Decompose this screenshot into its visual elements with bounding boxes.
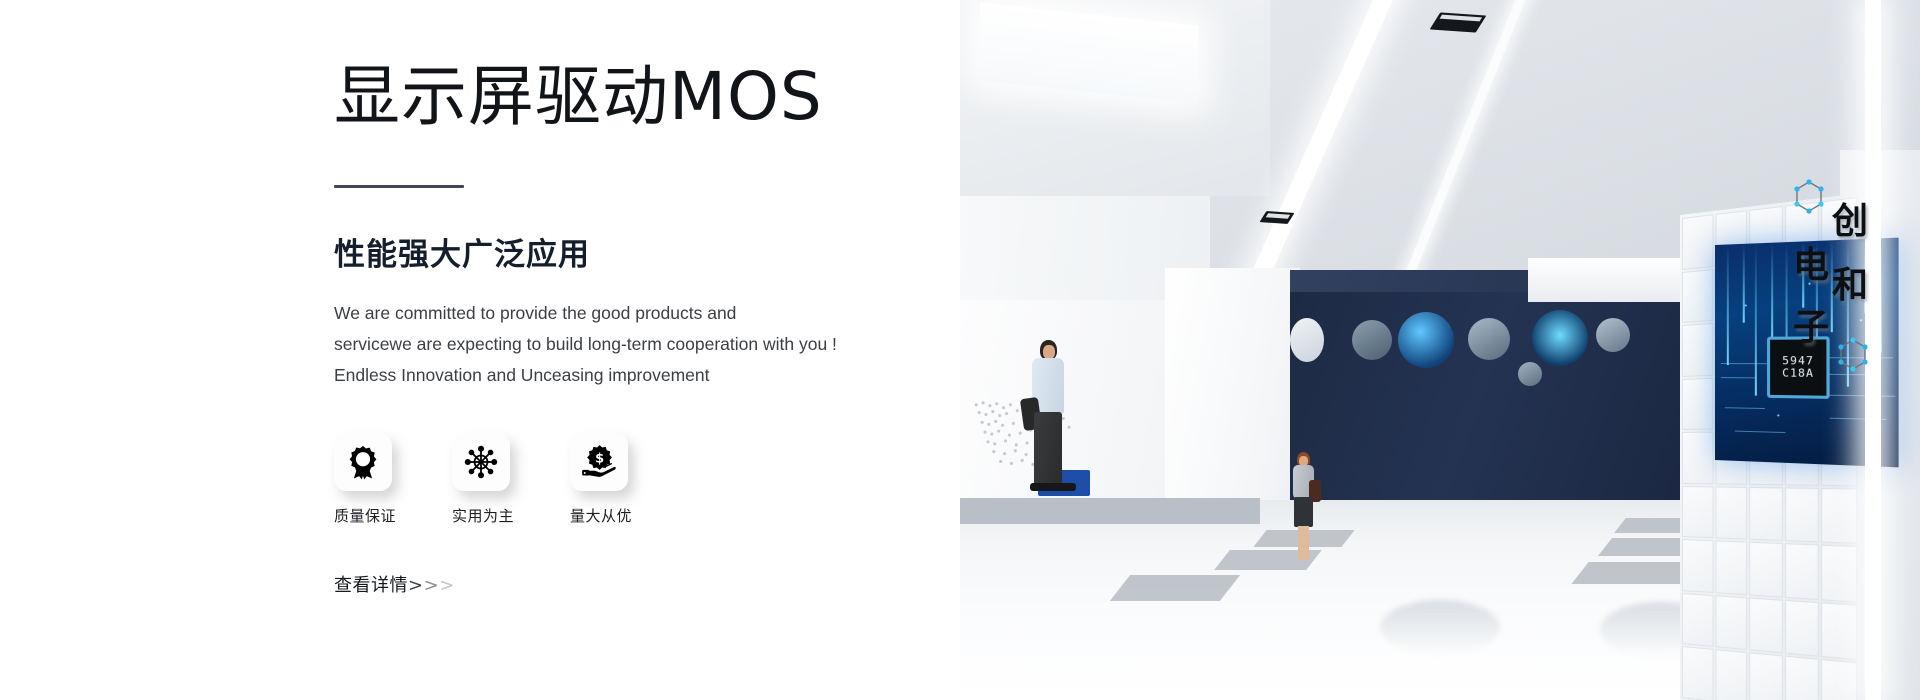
wall-photo-circle (1532, 310, 1588, 366)
view-details-link[interactable]: 查看详情>>> (334, 571, 455, 597)
award-ribbon-icon (345, 444, 381, 480)
navy-exhibition-wall (1290, 285, 1710, 515)
feature-label: 质量保证 (334, 505, 396, 526)
floor-reflection (1380, 600, 1500, 655)
feature-badge: $ (570, 433, 628, 491)
molecule-hexagon-icon (1836, 336, 1870, 374)
chevron-1-icon: > (408, 575, 424, 596)
feature-badge (334, 433, 392, 491)
wall-photo-circle (1352, 320, 1392, 360)
hero-paragraph: We are committed to provide the good pro… (334, 298, 879, 391)
person-businesswoman (1290, 452, 1324, 564)
view-details-label: 查看详情 (334, 575, 408, 596)
network-hub-icon (463, 444, 499, 480)
feature-list: 质量保证 (334, 433, 960, 526)
chevron-2-icon: > (424, 575, 440, 596)
hand-money-icon: $ (581, 444, 617, 480)
sign-char-3: 和 (1832, 256, 1868, 308)
feature-item-quality[interactable]: 质量保证 (334, 433, 394, 526)
feature-item-practical[interactable]: 实用为主 (452, 433, 512, 526)
hero-banner: 显示屏驱动MOS 性能强大广泛应用 We are committed to pr… (0, 0, 1920, 700)
feature-label: 实用为主 (452, 505, 514, 526)
person-businessman (1022, 340, 1078, 495)
wall-photo-circle (1468, 318, 1510, 360)
sign-char-4: 子 (1793, 298, 1829, 350)
page-title: 显示屏驱动MOS (334, 64, 960, 130)
paragraph-line-3: Endless Innovation and Unceasing improve… (334, 360, 879, 391)
showroom-photo: 5947 C18A 创 电 和 子 (960, 0, 1920, 700)
wall-signage: 创 电 和 子 (1788, 178, 1900, 388)
title-divider (334, 185, 464, 188)
feature-badge (452, 433, 510, 491)
chevron-3-icon: > (439, 575, 455, 596)
molecule-hexagon-icon (1792, 178, 1826, 216)
sign-char-1: 创 (1832, 192, 1868, 244)
wall-photo-circle (1290, 318, 1324, 362)
wall-photo-circle (1518, 362, 1542, 386)
svg-text:$: $ (595, 451, 604, 466)
paragraph-line-1: We are committed to provide the good pro… (334, 298, 879, 329)
floor-baseboard (960, 498, 1260, 524)
feature-label: 量大从优 (570, 505, 632, 526)
hero-subtitle: 性能强大广泛应用 (334, 238, 960, 272)
paragraph-line-2: servicewe are expecting to build long-te… (334, 329, 879, 360)
wall-chip-circle (1398, 312, 1454, 368)
floor-tile (1110, 575, 1240, 601)
wall-photo-circle (1596, 318, 1630, 352)
hero-text-panel: 显示屏驱动MOS 性能强大广泛应用 We are committed to pr… (0, 0, 960, 700)
sign-char-2: 电 (1793, 236, 1829, 288)
feature-item-volume[interactable]: $ 量大从优 (570, 433, 630, 526)
